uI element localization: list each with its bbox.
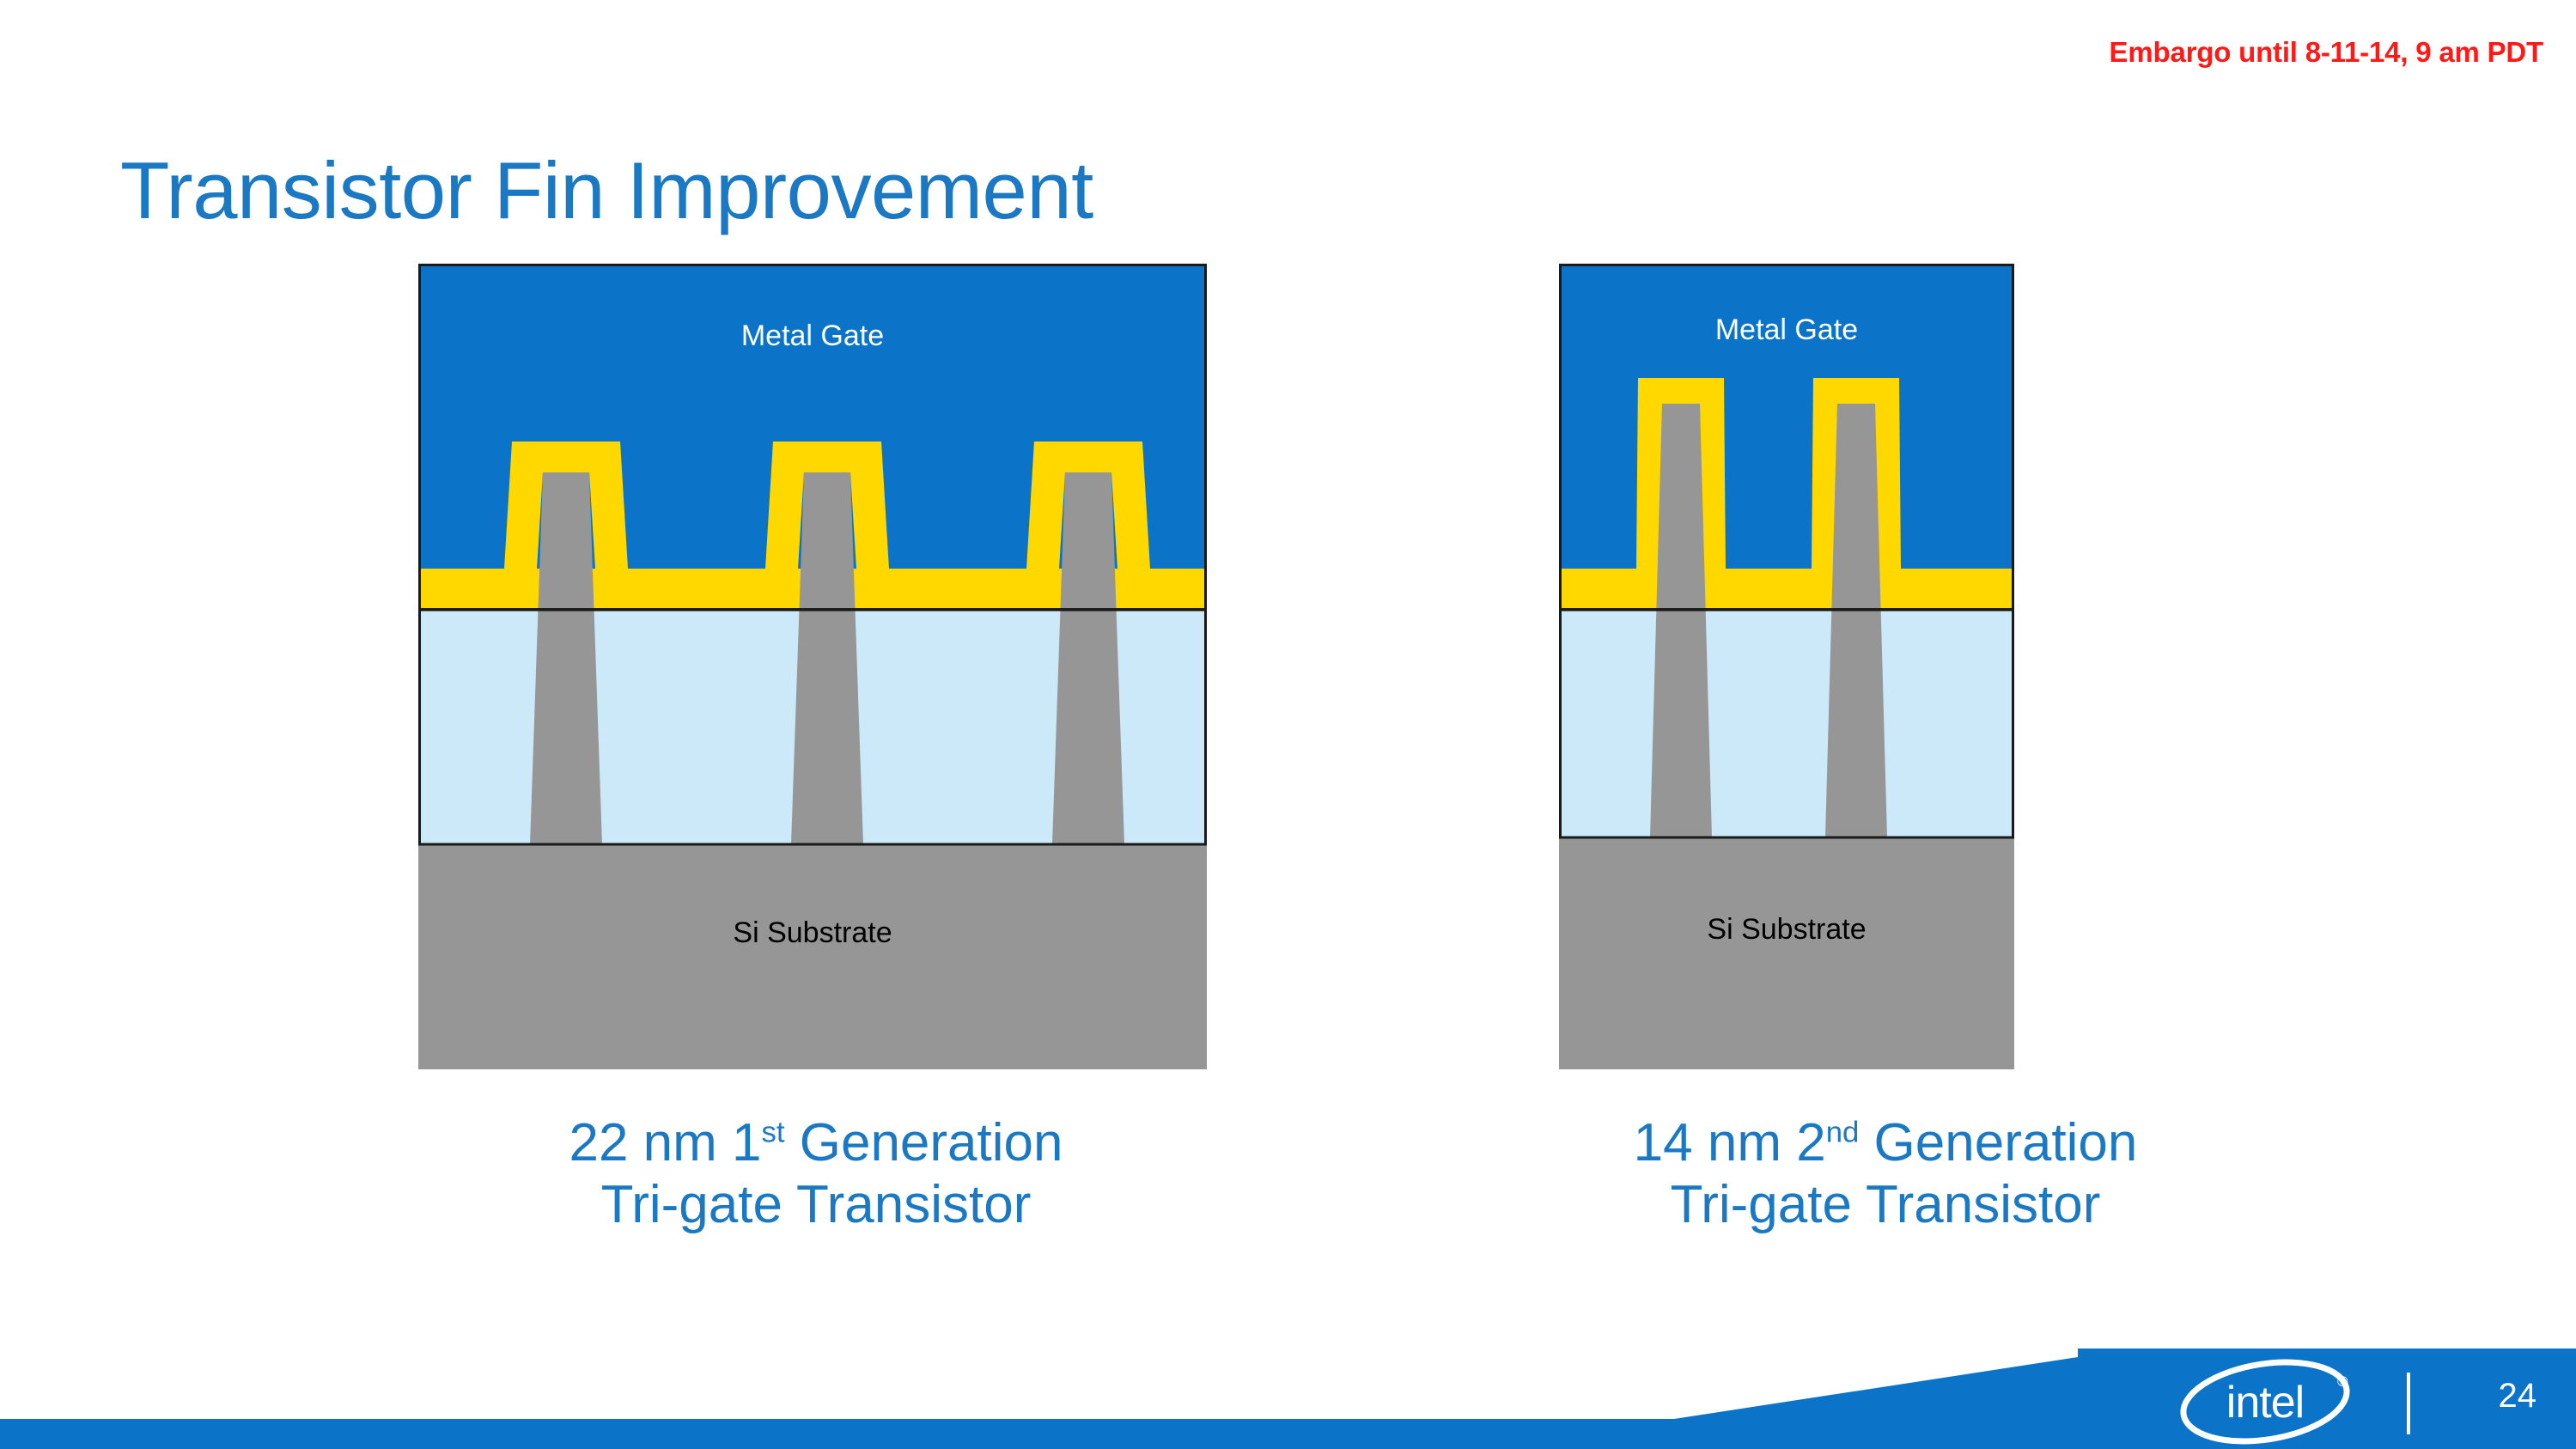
caption-14nm: 14 nm 2nd Generation Tri-gate Transistor	[1443, 1112, 2328, 1236]
slide-canvas: Embargo until 8-11-14, 9 am PDT Transist…	[0, 0, 2576, 1449]
footer-wedge-svg: intel ®	[1674, 1349, 2576, 1449]
caption-ordinal-suffix: st	[762, 1116, 785, 1148]
page-number: 24	[2499, 1377, 2537, 1416]
wedge-shape	[1674, 1349, 2576, 1449]
cross-section-svg-14nm: Metal Gate Si Substrate	[1559, 264, 2014, 1069]
footer-logo-wedge: intel ®	[1674, 1349, 2576, 1449]
caption-line-2: Tri-gate Transistor	[1443, 1174, 2328, 1236]
si-substrate-label: Si Substrate	[733, 916, 892, 949]
si-substrate-region	[418, 844, 1207, 1069]
caption-suffix: Generation	[785, 1113, 1063, 1172]
caption-suffix: Generation	[1859, 1113, 2137, 1172]
caption-prefix: 22 nm 1	[569, 1113, 761, 1172]
diagram-22nm-tri-gate: Metal Gate Si Substrate	[418, 264, 1207, 1069]
page-title: Transistor Fin Improvement	[120, 144, 1093, 237]
si-substrate-label: Si Substrate	[1707, 913, 1866, 946]
metal-gate-region	[1559, 264, 2014, 588]
sti-oxide-region	[1559, 610, 2014, 837]
diagram-14nm-tri-gate: Metal Gate Si Substrate	[1559, 264, 2014, 1069]
caption-line-1: 14 nm 2nd Generation	[1443, 1112, 2328, 1174]
caption-line-2: Tri-gate Transistor	[369, 1174, 1263, 1236]
metal-gate-label: Metal Gate	[1715, 314, 1858, 346]
cross-section-svg-22nm: Metal Gate Si Substrate	[418, 264, 1207, 1069]
caption-line-1: 22 nm 1st Generation	[369, 1112, 1263, 1174]
embargo-notice: Embargo until 8-11-14, 9 am PDT	[2110, 36, 2543, 69]
registered-mark-icon: ®	[2337, 1373, 2348, 1390]
caption-ordinal-suffix: nd	[1826, 1116, 1860, 1148]
caption-22nm: 22 nm 1st Generation Tri-gate Transistor	[369, 1112, 1263, 1236]
si-substrate-region	[1559, 837, 2014, 1069]
intel-wordmark: intel	[2226, 1378, 2304, 1428]
caption-prefix: 14 nm 2	[1634, 1113, 1826, 1172]
metal-gate-label: Metal Gate	[741, 320, 884, 352]
